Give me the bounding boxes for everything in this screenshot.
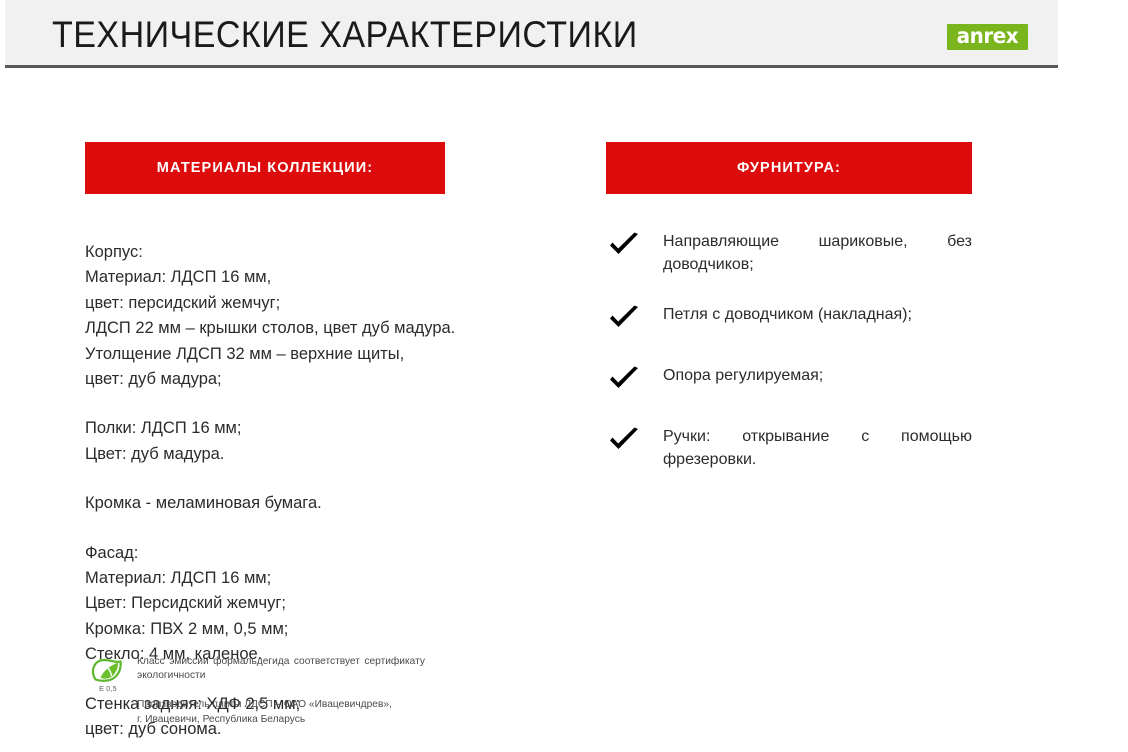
leaf-icon [85,657,131,685]
spec-line: Цвет: дуб мадура. [85,442,555,467]
list-item-label: Опора регулируемая; [663,364,972,387]
materials-banner: МАТЕРИАЛЫ КОЛЛЕКЦИИ: [85,142,445,194]
hardware-banner-label: ФУРНИТУРА: [737,160,841,176]
spec-block-fasad: Фасад: Материал: ЛДСП 16 мм; Цвет: Перси… [85,541,555,668]
manufacturer-note: Производитель плиты ЛДСП – ОАО «Ивацевич… [85,698,505,727]
spec-line: Фасад: [85,541,555,566]
list-item: Направляющие шариковые, без доводчиков; [606,230,972,276]
content-area: МАТЕРИАЛЫ КОЛЛЕКЦИИ: Корпус: Материал: Л… [0,68,1128,752]
spec-line: Кромка: ПВХ 2 мм, 0,5 мм; [85,617,555,642]
footer: E 0,5 Класс эмиссии формальдегида соотве… [85,655,505,727]
spec-line: Полки: ЛДСП 16 мм; [85,416,555,441]
eco-certification-row: E 0,5 Класс эмиссии формальдегида соотве… [85,655,505,683]
spec-block-polki: Полки: ЛДСП 16 мм; Цвет: дуб мадура. [85,416,555,467]
eco-badge: E 0,5 [85,657,131,693]
hardware-list: Направляющие шариковые, без доводчиков; … [606,230,972,471]
materials-banner-label: МАТЕРИАЛЫ КОЛЛЕКЦИИ: [157,160,373,176]
materials-column: МАТЕРИАЛЫ КОЛЛЕКЦИИ: Корпус: Материал: Л… [85,142,555,743]
check-icon [608,232,640,258]
manufacturer-line-2: г. Ивацевичи, Республика Беларусь [137,713,505,728]
spec-block-kromka: Кромка - меламиновая бумага. [85,491,555,516]
list-item: Петля с доводчиком (накладная); [606,303,972,337]
check-icon [608,366,640,392]
page-title: ТЕХНИЧЕСКИЕ ХАРАКТЕРИСТИКИ [52,14,638,56]
check-icon [608,305,640,331]
spec-line: Корпус: [85,240,555,265]
brand-logo: anrex [947,24,1028,50]
spec-block-korpus: Корпус: Материал: ЛДСП 16 мм, цвет: перс… [85,240,555,392]
list-item-label: Петля с доводчиком (накладная); [663,303,972,326]
spec-line: Утолщение ЛДСП 32 мм – верхние щиты, [85,342,555,367]
emission-note: Класс эмиссии формальдегида соответствуе… [137,655,425,683]
hardware-banner: ФУРНИТУРА: [606,142,972,194]
spec-line: цвет: дуб мадура; [85,367,555,392]
check-icon [608,427,640,453]
list-item-label: Ручки: открывание с помощью фрезеровки. [663,425,972,471]
manufacturer-line-1: Производитель плиты ЛДСП – ОАО «Ивацевич… [137,698,505,713]
spec-line: ЛДСП 22 мм – крышки столов, цвет дуб мад… [85,316,555,341]
spec-line: Цвет: Персидский жемчуг; [85,591,555,616]
list-item: Ручки: открывание с помощью фрезеровки. [606,425,972,471]
list-item: Опора регулируемая; [606,364,972,398]
spec-line: Кромка - меламиновая бумага. [85,491,555,516]
spec-line: Материал: ЛДСП 16 мм, [85,265,555,290]
spec-line: цвет: персидский жемчуг; [85,291,555,316]
list-item-label: Направляющие шариковые, без доводчиков; [663,230,972,276]
eco-badge-label: E 0,5 [85,686,131,693]
spec-line: Материал: ЛДСП 16 мм; [85,566,555,591]
hardware-column: ФУРНИТУРА: Направляющие шариковые, без д… [606,142,972,487]
brand-logo-text: anrex [957,26,1019,47]
